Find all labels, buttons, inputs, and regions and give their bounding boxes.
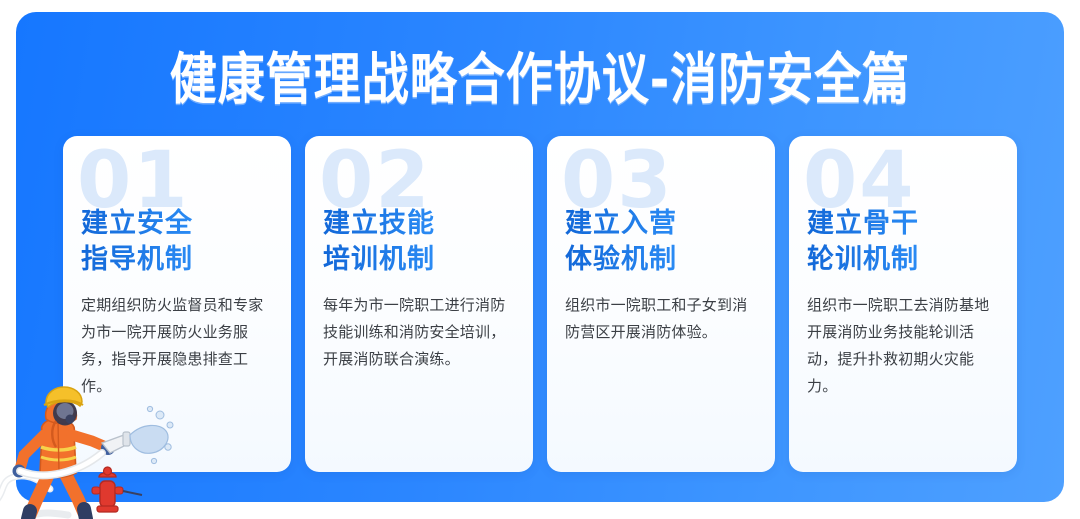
- card-content: 04 建立骨干 轮训机制 组织市一院职工去消防基地开展消防业务技能轮训活动，提升…: [789, 136, 1017, 472]
- card-body-text: 每年为市一院职工进行消防技能训练和消防安全培训，开展消防联合演练。: [323, 292, 515, 373]
- card-body-text: 组织市一院职工去消防基地开展消防业务技能轮训活动，提升扑救初期火灾能力。: [807, 292, 999, 400]
- info-card[interactable]: 01 建立安全 指导机制 定期组织防火监督员和专家为市一院开展防火业务服务，指导…: [63, 136, 291, 472]
- card-heading: 建立骨干 轮训机制: [807, 206, 999, 278]
- card-heading: 建立安全 指导机制: [81, 206, 273, 278]
- card-body-text: 定期组织防火监督员和专家为市一院开展防火业务服务，指导开展隐患排查工作。: [81, 292, 273, 400]
- card-heading: 建立技能 培训机制: [323, 206, 515, 278]
- poster-canvas: 健康管理战略合作协议-消防安全篇 01 建立安全 指导机制 定期组织防火监督员和…: [0, 0, 1080, 519]
- info-card[interactable]: 02 建立技能 培训机制 每年为市一院职工进行消防技能训练和消防安全培训，开展消…: [305, 136, 533, 472]
- info-card[interactable]: 03 建立入营 体验机制 组织市一院职工和子女到消防营区开展消防体验。: [547, 136, 775, 472]
- card-content: 01 建立安全 指导机制 定期组织防火监督员和专家为市一院开展防火业务服务，指导…: [63, 136, 291, 472]
- card-content: 03 建立入营 体验机制 组织市一院职工和子女到消防营区开展消防体验。: [547, 136, 775, 472]
- card-content: 02 建立技能 培训机制 每年为市一院职工进行消防技能训练和消防安全培训，开展消…: [305, 136, 533, 472]
- page-title: 健康管理战略合作协议-消防安全篇: [170, 48, 911, 114]
- card-body-text: 组织市一院职工和子女到消防营区开展消防体验。: [565, 292, 757, 346]
- card-row: 01 建立安全 指导机制 定期组织防火监督员和专家为市一院开展防火业务服务，指导…: [63, 136, 1017, 472]
- card-heading: 建立入营 体验机制: [565, 206, 757, 278]
- title-container: 健康管理战略合作协议-消防安全篇: [16, 48, 1064, 104]
- info-card[interactable]: 04 建立骨干 轮训机制 组织市一院职工去消防基地开展消防业务技能轮训活动，提升…: [789, 136, 1017, 472]
- blue-panel: 健康管理战略合作协议-消防安全篇 01 建立安全 指导机制 定期组织防火监督员和…: [16, 12, 1064, 502]
